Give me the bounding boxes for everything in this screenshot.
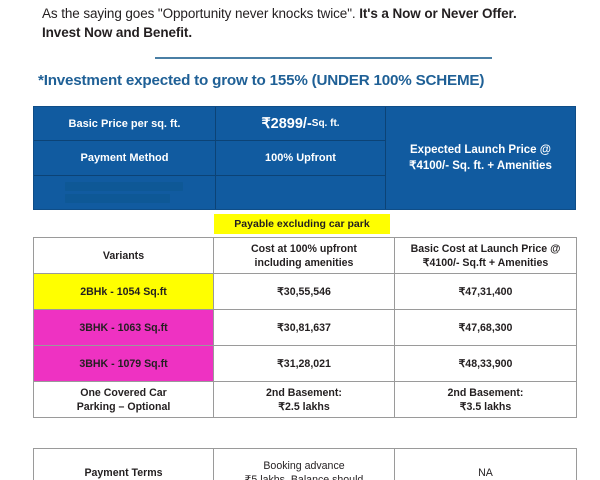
blue-row-1-value: 100% Upfront — [216, 141, 385, 175]
parking-cost-upfront-line2: ₹2.5 lakhs — [278, 401, 330, 413]
blue-summary-table: Basic Price per sq. ft. Payment Method ₹… — [33, 106, 576, 210]
intro-paragraph: As the saying goes "Opportunity never kn… — [42, 4, 554, 42]
header-cost-upfront-line1: Cost at 100% upfront — [251, 243, 357, 255]
payment-terms-line1: Booking advance — [263, 460, 344, 472]
page-title: *Investment expected to grow to 155% (UN… — [38, 72, 583, 89]
variant-cost-upfront-0: ₹30,55,546 — [214, 274, 395, 310]
variant-name-1: 3BHK - 1063 Sq.ft — [34, 310, 214, 346]
blue-row-2-label — [34, 176, 215, 209]
table-row: 3BHK - 1079 Sq.ft ₹31,28,021 ₹48,33,900 — [34, 346, 577, 382]
header-cost-launch-line2: ₹4100/- Sq.ft + Amenities — [423, 257, 549, 269]
blue-row-2-value — [216, 176, 385, 209]
blue-table-label-column: Basic Price per sq. ft. Payment Method — [34, 107, 216, 209]
parking-cost-launch-line1: 2nd Basement: — [448, 387, 524, 399]
parking-label-line1: One Covered Car — [80, 387, 167, 399]
payable-excluding-car-park-banner: Payable excluding car park — [214, 214, 390, 234]
parking-cost-upfront-line1: 2nd Basement: — [266, 387, 342, 399]
blue-row-0-value: ₹2899/- Sq. ft. — [216, 107, 385, 141]
parking-cost-launch-line2: ₹3.5 lakhs — [460, 401, 512, 413]
variant-cost-launch-2: ₹48,33,900 — [395, 346, 577, 382]
slide-page: As the saying goes "Opportunity never kn… — [0, 0, 600, 480]
header-cost-launch: Basic Cost at Launch Price @ ₹4100/- Sq.… — [395, 238, 577, 274]
payment-terms-label: Payment Terms — [34, 449, 214, 480]
horizontal-divider — [155, 57, 492, 59]
table-row: 3BHK - 1063 Sq.ft ₹30,81,637 ₹47,68,300 — [34, 310, 577, 346]
variant-cost-launch-1: ₹47,68,300 — [395, 310, 577, 346]
variant-cost-launch-0: ₹47,31,400 — [395, 274, 577, 310]
expected-launch-price-cell: Expected Launch Price @ ₹4100/- Sq. ft. … — [386, 107, 575, 209]
variant-name-2: 3BHK - 1079 Sq.ft — [34, 346, 214, 382]
table-header-row: Variants Cost at 100% upfront including … — [34, 238, 577, 274]
header-cost-upfront-line2: including amenities — [255, 257, 354, 269]
payment-terms-table: Payment Terms Booking advance ₹5 lakhs, … — [33, 448, 577, 480]
payment-terms-row: Payment Terms Booking advance ₹5 lakhs, … — [34, 449, 577, 480]
variant-cost-upfront-1: ₹30,81,637 — [214, 310, 395, 346]
parking-cost-upfront: 2nd Basement: ₹2.5 lakhs — [214, 382, 395, 418]
payment-terms-launch-value: NA — [395, 449, 577, 480]
parking-label: One Covered Car Parking – Optional — [34, 382, 214, 418]
payment-terms-line2: ₹5 lakhs, Balance should — [245, 474, 364, 480]
intro-normal-text: As the saying goes "Opportunity never kn… — [42, 6, 359, 21]
variant-cost-upfront-2: ₹31,28,021 — [214, 346, 395, 382]
redacted-text-block — [65, 182, 185, 203]
basic-price-amount: ₹2899/- — [261, 116, 311, 132]
car-parking-row: One Covered Car Parking – Optional 2nd B… — [34, 382, 577, 418]
redacted-line-2 — [65, 194, 170, 203]
table-row: 2BHk - 1054 Sq.ft ₹30,55,546 ₹47,31,400 — [34, 274, 577, 310]
variants-pricing-table: Variants Cost at 100% upfront including … — [33, 237, 577, 418]
parking-label-line2: Parking – Optional — [77, 401, 171, 413]
redacted-line-1 — [65, 182, 183, 191]
blue-row-1-label: Payment Method — [34, 141, 215, 175]
header-cost-upfront: Cost at 100% upfront including amenities — [214, 238, 395, 274]
parking-cost-launch: 2nd Basement: ₹3.5 lakhs — [395, 382, 577, 418]
blue-row-0-label: Basic Price per sq. ft. — [34, 107, 215, 141]
basic-price-unit: Sq. ft. — [312, 118, 340, 129]
variant-name-0: 2BHk - 1054 Sq.ft — [34, 274, 214, 310]
payment-terms-value: Booking advance ₹5 lakhs, Balance should — [214, 449, 395, 480]
header-cost-launch-line1: Basic Cost at Launch Price @ — [411, 243, 561, 255]
header-variants: Variants — [34, 238, 214, 274]
blue-table-value-column: ₹2899/- Sq. ft. 100% Upfront — [216, 107, 386, 209]
